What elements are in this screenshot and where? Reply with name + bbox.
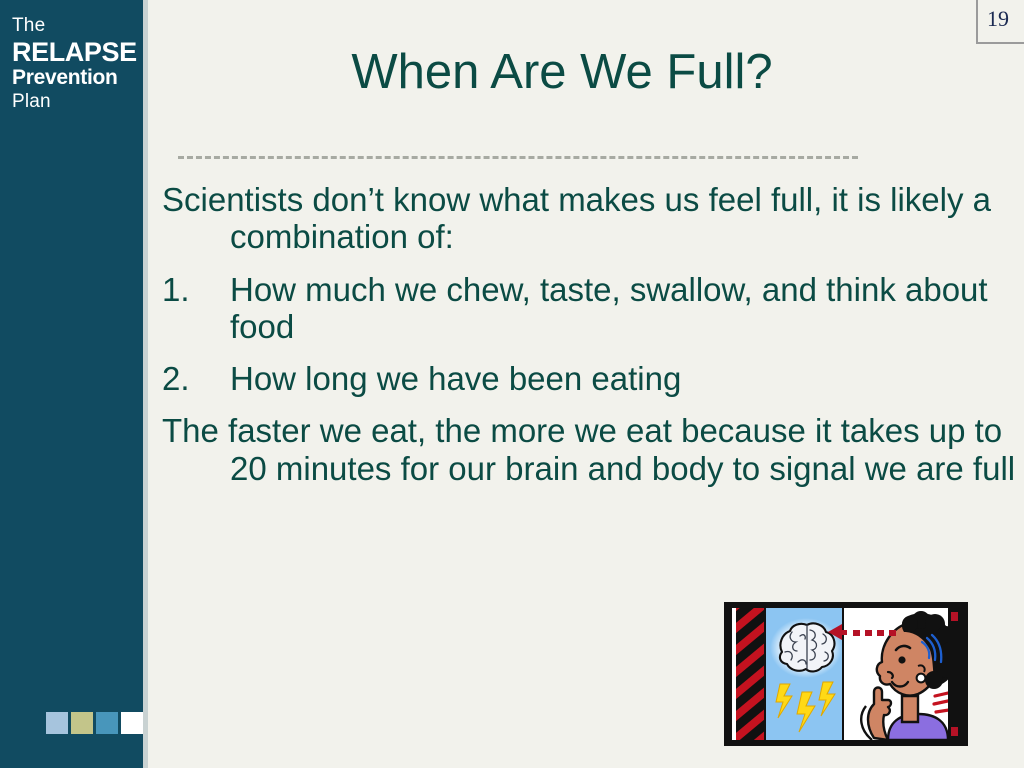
list-item-2: 2.How long we have been eating bbox=[162, 360, 1020, 397]
paragraph-closing: The faster we eat, the more we eat becau… bbox=[162, 412, 1020, 487]
swatch-khaki bbox=[71, 712, 93, 734]
swatch-light-blue bbox=[46, 712, 68, 734]
brain-panel bbox=[766, 608, 844, 740]
swatch-white bbox=[121, 712, 143, 734]
sidebar bbox=[0, 0, 143, 768]
page-number: 19 bbox=[978, 6, 1018, 32]
slide-canvas: The RELAPSE Prevention Plan 19 When Are … bbox=[0, 0, 1024, 768]
paragraph-text: Scientists don’t know what makes us feel… bbox=[162, 181, 991, 255]
list-item-1: 1.How much we chew, taste, swallow, and … bbox=[162, 271, 1020, 346]
film-edge-right bbox=[948, 608, 960, 740]
logo-line-prevention: Prevention bbox=[12, 67, 140, 88]
paragraph-text: The faster we eat, the more we eat becau… bbox=[162, 412, 1015, 486]
neck bbox=[902, 696, 918, 722]
list-marker-1: 1. bbox=[162, 271, 230, 308]
list-text-1: How much we chew, taste, swallow, and th… bbox=[230, 271, 988, 345]
sidebar-edge-divider bbox=[143, 0, 148, 768]
film-edge-marker-top bbox=[951, 612, 958, 621]
brain-signal-illustration bbox=[722, 600, 970, 748]
title-divider bbox=[178, 156, 858, 159]
sidebar-color-swatches bbox=[46, 712, 143, 734]
paragraph-intro: Scientists don’t know what makes us feel… bbox=[162, 181, 1020, 256]
page-title: When Are We Full? bbox=[148, 44, 976, 100]
earring bbox=[917, 674, 926, 683]
eye bbox=[898, 656, 905, 663]
person-panel bbox=[844, 608, 960, 740]
list-text-2: How long we have been eating bbox=[230, 360, 681, 397]
page-number-corner: 19 bbox=[976, 0, 1024, 44]
swatch-teal bbox=[96, 712, 118, 734]
body-content: Scientists don’t know what makes us feel… bbox=[162, 181, 1020, 502]
list-marker-2: 2. bbox=[162, 360, 230, 397]
logo-line-plan: Plan bbox=[12, 92, 140, 111]
brand-logo: The RELAPSE Prevention Plan bbox=[12, 16, 140, 111]
logo-line-the: The bbox=[12, 16, 140, 35]
logo-line-relapse: RELAPSE bbox=[12, 39, 140, 66]
film-edge-marker-bottom bbox=[951, 727, 958, 736]
